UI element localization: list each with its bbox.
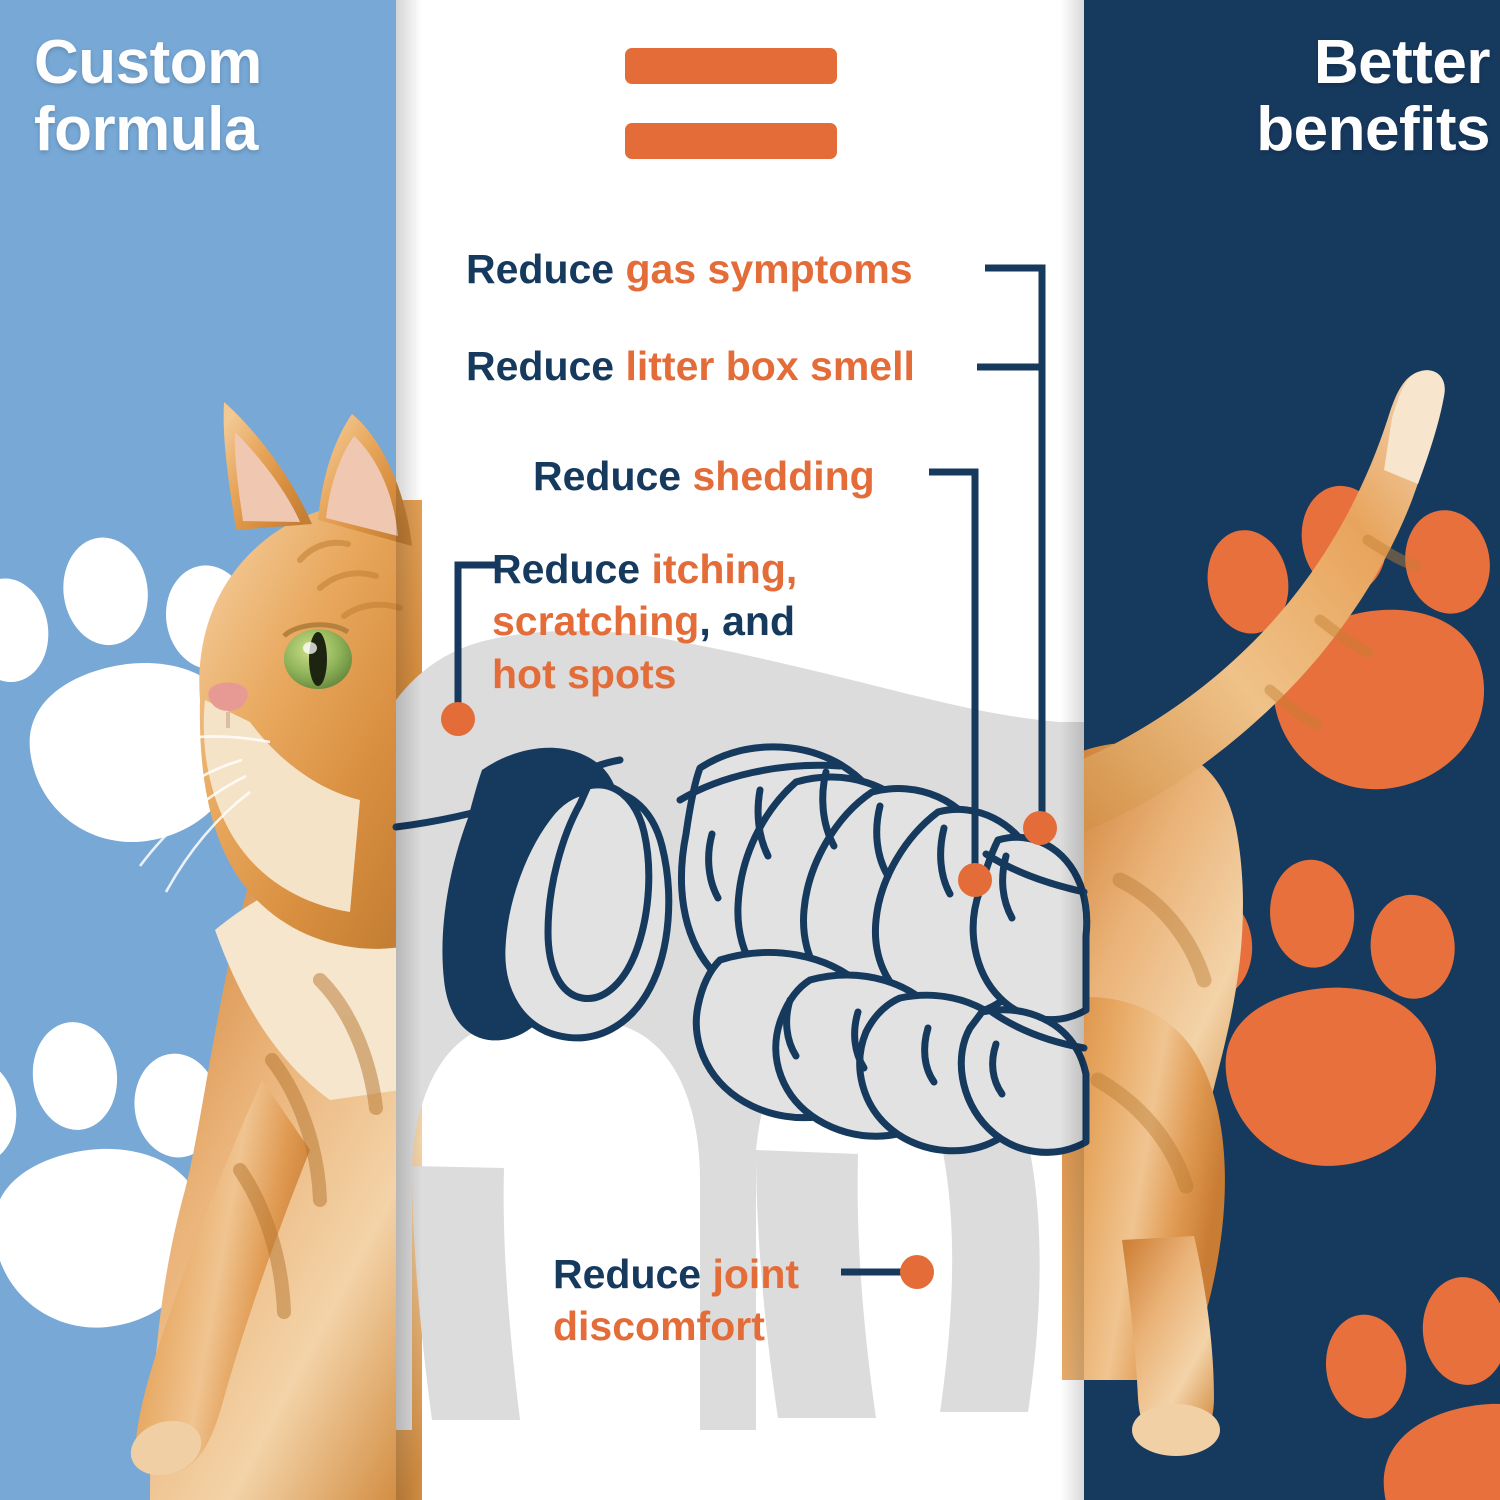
infographic-root: Custom formula Better benefits Reduce ga…	[0, 0, 1500, 1500]
benefit-label-shedding: Reduce shedding	[533, 450, 875, 502]
right-panel-shadow	[1060, 0, 1084, 1500]
benefit-shedding-plain: Reduce	[533, 453, 693, 499]
left-panel-title: Custom formula	[34, 30, 384, 164]
benefit-label-gas: Reduce gas symptoms	[466, 243, 913, 295]
equals-bar-bottom	[625, 123, 837, 159]
benefit-label-itching: Reduce itching, scratching, and hot spot…	[492, 543, 862, 700]
benefit-itching-accent-c: hot spots	[492, 651, 676, 697]
benefit-joint-plain: Reduce	[553, 1251, 713, 1297]
left-cat-photo	[124, 402, 430, 1500]
benefit-shedding-accent: shedding	[693, 453, 875, 499]
benefit-label-litter-box: Reduce litter box smell	[466, 340, 915, 392]
benefit-litter-plain: Reduce	[466, 343, 626, 389]
dot-shedding	[958, 863, 992, 897]
benefit-litter-accent: litter box smell	[626, 343, 915, 389]
equals-icon	[625, 48, 837, 159]
benefit-gas-accent: gas symptoms	[626, 246, 913, 292]
benefit-joint-accent-b: discomfort	[553, 1303, 765, 1349]
equals-bar-top	[625, 48, 837, 84]
dot-joint	[900, 1255, 934, 1289]
benefit-itching-accent-b: scratching	[492, 598, 699, 644]
right-panel-title: Better benefits	[1110, 30, 1490, 164]
benefit-itching-plain: Reduce	[492, 546, 652, 592]
dot-itching	[441, 702, 475, 736]
benefit-itching-plain-b: , and	[699, 598, 795, 644]
dot-gas-litter	[1023, 811, 1057, 845]
benefit-label-joint: Reduce joint discomfort	[553, 1248, 883, 1353]
left-panel-shadow	[396, 0, 422, 1500]
benefit-joint-accent-a: joint	[713, 1251, 800, 1297]
benefit-gas-plain: Reduce	[466, 246, 626, 292]
benefit-itching-accent-a: itching,	[652, 546, 798, 592]
